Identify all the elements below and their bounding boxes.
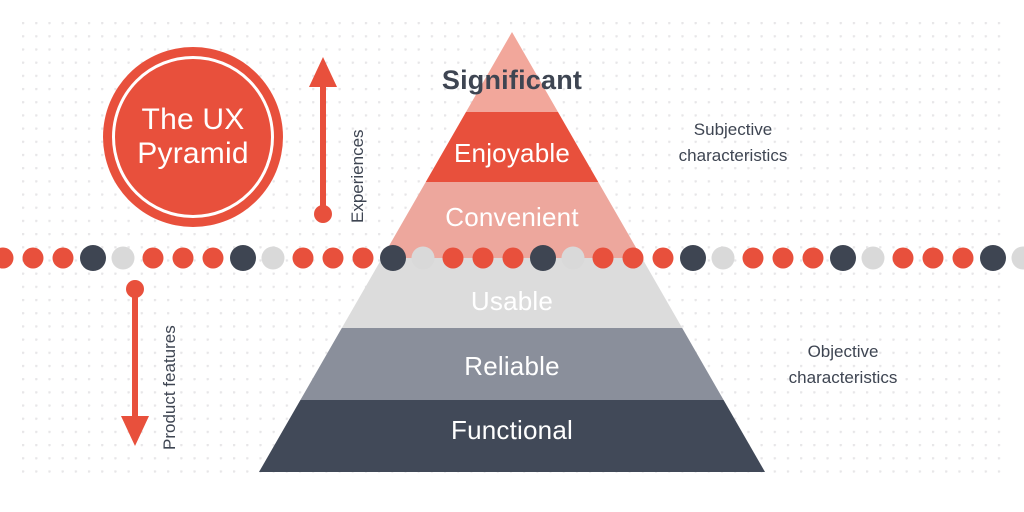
divider-dot (443, 248, 464, 269)
annotation-objective-characteristics: Objective characteristics (748, 339, 938, 391)
divider-dot (980, 245, 1006, 271)
divider-dot (562, 247, 585, 270)
divider-dot (203, 248, 224, 269)
divider-dot (143, 248, 164, 269)
divider-dot (53, 248, 74, 269)
dot-divider-row (0, 240, 1024, 276)
divider-dot (773, 248, 794, 269)
divider-dot (530, 245, 556, 271)
arrow-up-icon (306, 55, 340, 225)
divider-dot (953, 248, 974, 269)
divider-dot (830, 245, 856, 271)
divider-dot (862, 247, 885, 270)
ux-pyramid-diagram: Significant Enjoyable Convenient Usable … (0, 0, 1024, 512)
arrow-product-features-label: Product features (160, 325, 180, 450)
divider-dot (112, 247, 135, 270)
arrow-product-features: Product features (118, 278, 152, 453)
divider-dot (712, 247, 735, 270)
divider-dot (893, 248, 914, 269)
divider-dot (23, 248, 44, 269)
logo-title: The UX Pyramid (137, 103, 248, 171)
annotation-subjective-characteristics: Subjective characteristics (638, 117, 828, 169)
divider-dot (230, 245, 256, 271)
arrow-experiences: Experiences (306, 55, 340, 230)
divider-dot (173, 248, 194, 269)
divider-dot (680, 245, 706, 271)
pyramid-layer-functional (250, 400, 776, 478)
divider-dot (293, 248, 314, 269)
divider-dot (743, 248, 764, 269)
divider-dot (503, 248, 524, 269)
divider-dot (473, 248, 494, 269)
pyramid-layer-reliable (250, 328, 776, 400)
divider-dot (323, 248, 344, 269)
divider-dot (653, 248, 674, 269)
divider-dot (593, 248, 614, 269)
divider-dot (412, 247, 435, 270)
arrow-down-icon (118, 278, 152, 448)
divider-dot (1012, 247, 1024, 270)
divider-dot (803, 248, 824, 269)
divider-dot (923, 248, 944, 269)
divider-dot (623, 248, 644, 269)
divider-dot (0, 248, 14, 269)
divider-dot (262, 247, 285, 270)
divider-dot (353, 248, 374, 269)
divider-dot (80, 245, 106, 271)
logo-badge: The UX Pyramid (103, 47, 283, 227)
divider-dot (380, 245, 406, 271)
arrow-experiences-label: Experiences (348, 129, 368, 223)
